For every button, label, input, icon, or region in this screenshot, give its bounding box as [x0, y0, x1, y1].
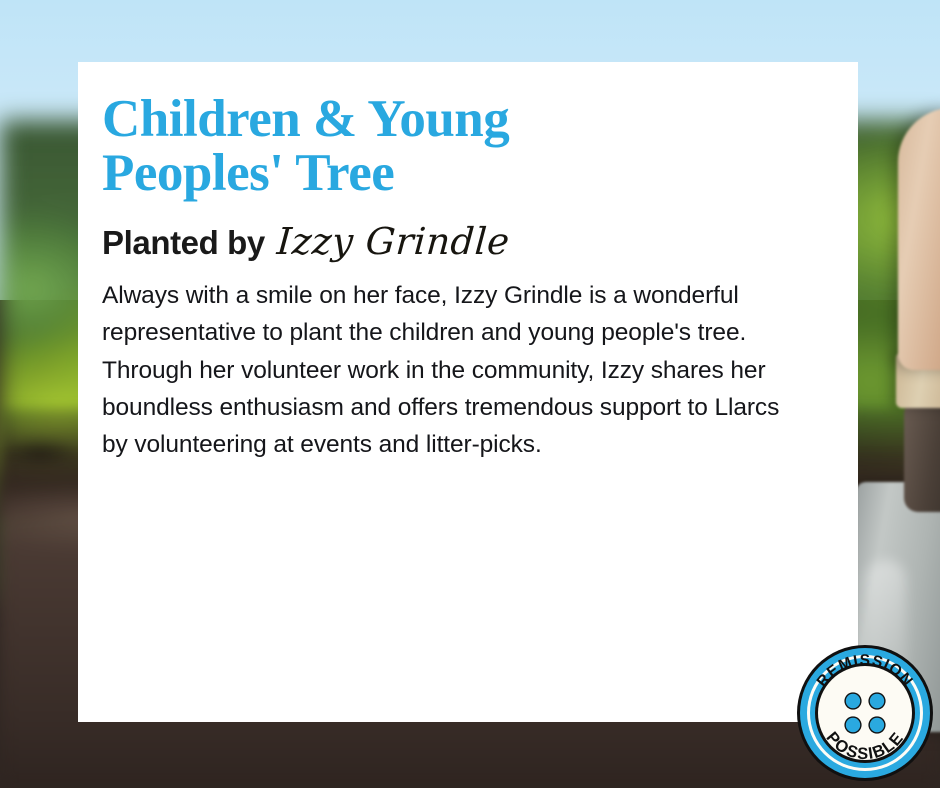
button-hole-1 [846, 694, 860, 708]
planted-by-row: Planted by Izzy Grindle [102, 220, 834, 263]
page-title-line-1: Children & Young [102, 92, 834, 146]
remission-possible-logo: REMISSION POSSIBLE [795, 643, 935, 783]
button-hole-4 [870, 718, 884, 732]
planter-signature: Izzy Grindle [275, 220, 511, 263]
content-card: Children & Young Peoples' Tree Planted b… [78, 62, 858, 722]
poster-canvas: Children & Young Peoples' Tree Planted b… [0, 0, 940, 788]
content-card-inner: Children & Young Peoples' Tree Planted b… [78, 62, 858, 463]
page-title-line-2: Peoples' Tree [102, 146, 834, 200]
logo-svg: REMISSION POSSIBLE [795, 643, 935, 783]
trowel-neck [904, 400, 940, 512]
trowel-handle [898, 108, 940, 370]
planted-by-label: Planted by [102, 224, 265, 262]
page-title: Children & Young Peoples' Tree [102, 92, 834, 200]
button-hole-3 [846, 718, 860, 732]
button-hole-2 [870, 694, 884, 708]
description-paragraph: Always with a smile on her face, Izzy Gr… [102, 277, 792, 463]
